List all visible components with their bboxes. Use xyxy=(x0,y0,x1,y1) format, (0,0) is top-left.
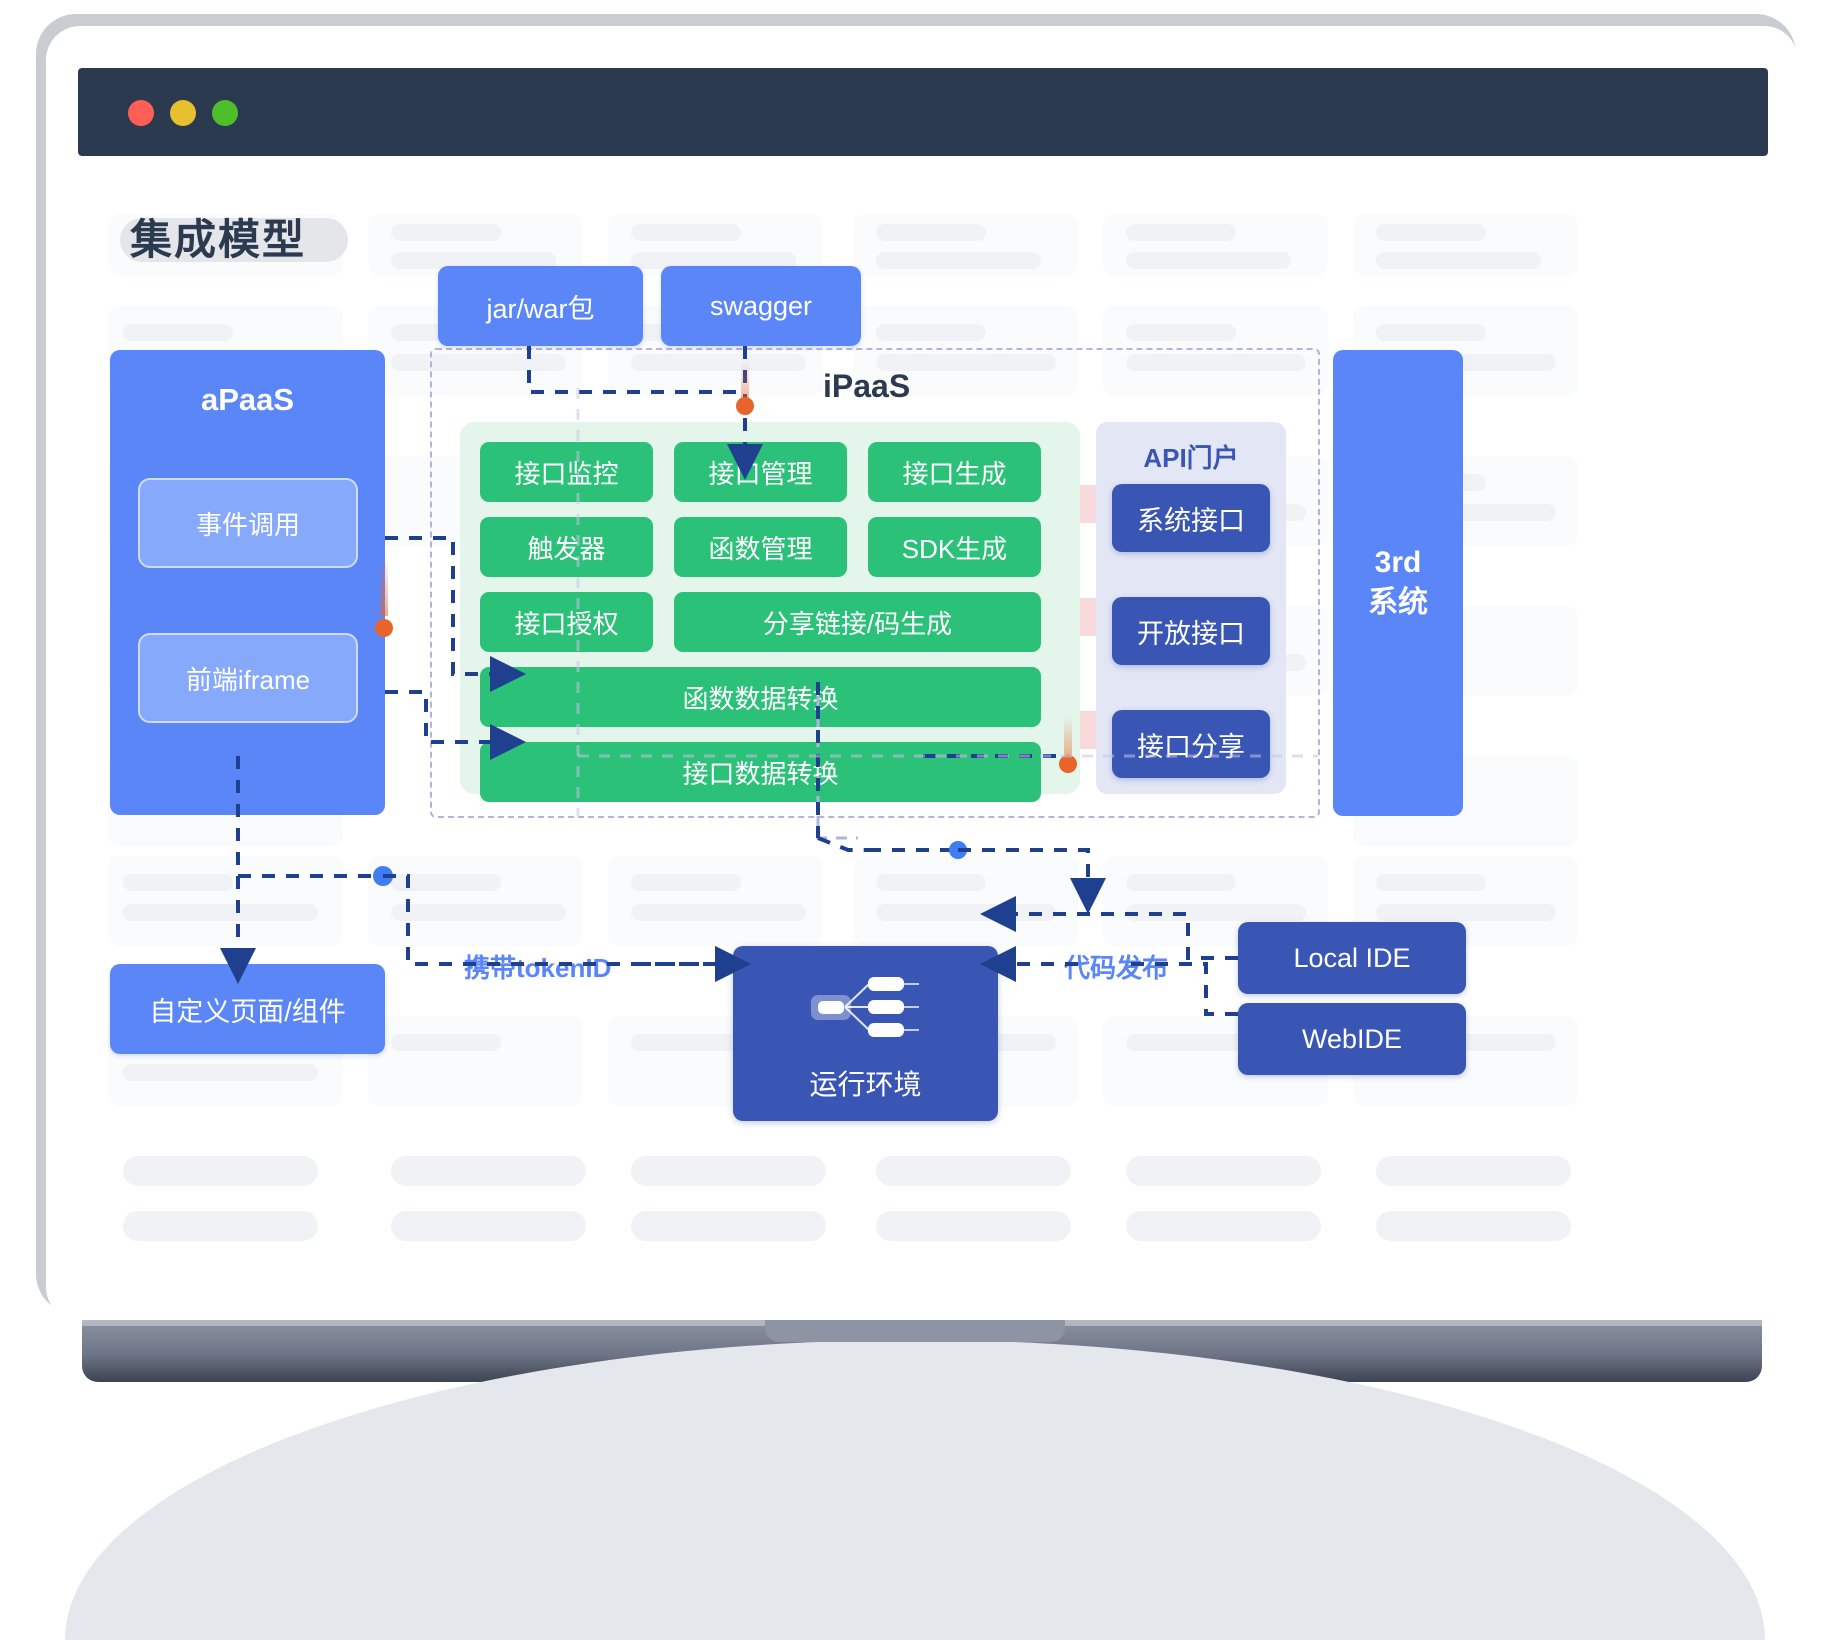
node-frontend-iframe[interactable]: 前端iframe xyxy=(138,633,358,723)
node-api-data-transform[interactable]: 接口数据转换 xyxy=(480,742,1041,802)
node-event-call[interactable]: 事件调用 xyxy=(138,478,358,568)
node-label: 接口生成 xyxy=(902,454,1006,491)
runtime-tree-icon xyxy=(801,968,931,1051)
node-trigger[interactable]: 触发器 xyxy=(480,517,653,577)
node-function-data-transform[interactable]: 函数数据转换 xyxy=(480,667,1041,727)
node-label: 接口授权 xyxy=(514,604,618,641)
node-label: 接口分享 xyxy=(1137,725,1245,764)
node-label: 前端iframe xyxy=(186,660,310,697)
laptop-base-notch xyxy=(765,1320,1065,1342)
node-label: SDK生成 xyxy=(902,529,1007,566)
node-custom-page[interactable]: 自定义页面/组件 xyxy=(110,964,385,1054)
node-label: 接口数据转换 xyxy=(682,754,838,791)
node-jar-war[interactable]: jar/war包 xyxy=(438,266,643,346)
node-system-api[interactable]: 系统接口 xyxy=(1112,484,1270,552)
node-label: 事件调用 xyxy=(196,505,300,542)
node-label: WebIDE xyxy=(1302,1024,1402,1055)
maximize-button[interactable] xyxy=(212,100,238,126)
architecture-diagram: jar/war包 swagger aPaaS 事件调用 前端iframe iPa… xyxy=(78,156,1768,1316)
node-label: 接口监控 xyxy=(514,454,618,491)
node-swagger[interactable]: swagger xyxy=(661,266,861,346)
node-label: swagger xyxy=(710,291,812,322)
edge-label-code-publish: 代码发布 xyxy=(1058,946,1174,987)
page-canvas: 集成模型 xyxy=(78,156,1768,1316)
node-api-monitor[interactable]: 接口监控 xyxy=(480,442,653,502)
node-label: Local IDE xyxy=(1293,943,1410,974)
node-label: 接口管理 xyxy=(708,454,812,491)
node-label-line2: 系统 xyxy=(1368,583,1428,624)
node-label-line1: 3rd xyxy=(1375,543,1422,584)
api-portal-panel[interactable]: API门户 系统接口 开放接口 接口分享 xyxy=(1096,422,1286,794)
node-runtime-environment[interactable]: 运行环境 xyxy=(733,946,998,1121)
node-api-generate[interactable]: 接口生成 xyxy=(868,442,1041,502)
node-label: jar/war包 xyxy=(486,287,594,326)
node-api-manage[interactable]: 接口管理 xyxy=(674,442,847,502)
node-function-manage[interactable]: 函数管理 xyxy=(674,517,847,577)
node-open-api[interactable]: 开放接口 xyxy=(1112,597,1270,665)
node-label: 函数管理 xyxy=(708,529,812,566)
node-label: 系统接口 xyxy=(1137,499,1245,538)
node-label: 运行环境 xyxy=(733,1063,998,1103)
ipaas-title: iPaaS xyxy=(823,368,910,405)
node-api-share[interactable]: 接口分享 xyxy=(1112,710,1270,778)
browser-title-bar xyxy=(78,68,1768,156)
node-local-ide[interactable]: Local IDE xyxy=(1238,922,1466,994)
node-label: 函数数据转换 xyxy=(682,679,838,716)
node-api-authorize[interactable]: 接口授权 xyxy=(480,592,653,652)
node-label: 分享链接/码生成 xyxy=(763,604,952,641)
api-portal-title: API门户 xyxy=(1096,438,1286,475)
node-share-link[interactable]: 分享链接/码生成 xyxy=(674,592,1041,652)
minimize-button[interactable] xyxy=(170,100,196,126)
close-button[interactable] xyxy=(128,100,154,126)
edge-label-token: 携带tokenID xyxy=(458,946,617,987)
node-label: 自定义页面/组件 xyxy=(149,990,346,1029)
node-sdk-generate[interactable]: SDK生成 xyxy=(868,517,1041,577)
node-label: 触发器 xyxy=(527,529,605,566)
apaas-panel[interactable]: aPaaS 事件调用 前端iframe xyxy=(110,350,385,815)
node-web-ide[interactable]: WebIDE xyxy=(1238,1003,1466,1075)
apaas-title: aPaaS xyxy=(110,382,385,418)
node-third-party-system[interactable]: 3rd 系统 xyxy=(1333,350,1463,816)
node-label: 开放接口 xyxy=(1137,612,1245,651)
